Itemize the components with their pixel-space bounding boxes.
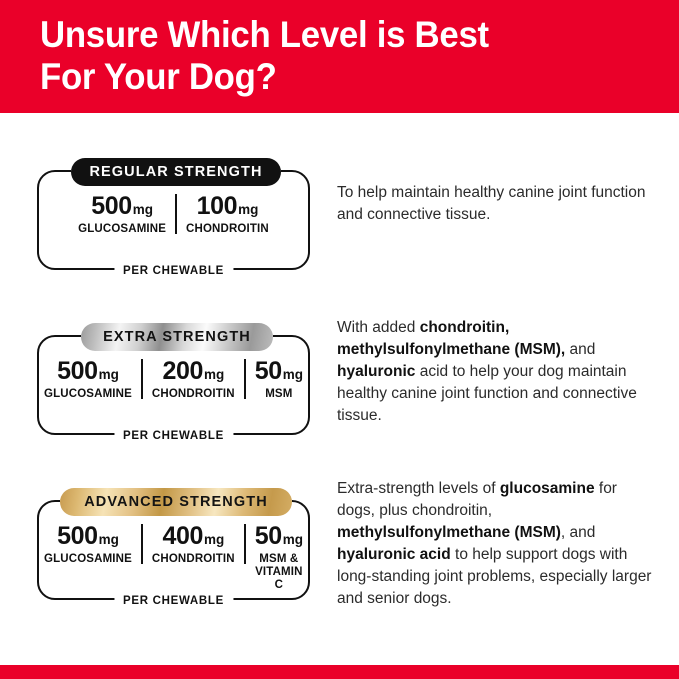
dose-number: 500 [57,522,98,551]
badge-extra-strength: EXTRA STRENGTH [81,323,273,351]
dose-column: 500 mg GLUCOSAMINE [69,192,175,236]
dose-row: 500 mg GLUCOSAMINE 400 mg CHONDROITIN 50… [39,522,308,584]
badge-label: REGULAR STRENGTH [89,164,262,180]
dose-column: 400 mg CHONDROITIN [143,522,244,566]
dose-amount: 500 mg [57,357,119,386]
dose-column: 50 mg MSM [246,357,312,401]
badge-label: ADVANCED STRENGTH [84,494,268,510]
description-extra: With added chondroitin, methylsulfonylme… [337,317,659,427]
dose-column: 500 mg GLUCOSAMINE [35,357,141,401]
dose-number: 400 [162,522,203,551]
dose-unit: mg [283,367,303,382]
footer-band [0,665,679,679]
dose-unit: mg [204,532,224,547]
dose-unit: mg [133,202,153,217]
dose-amount: 500 mg [57,522,119,551]
dose-ingredient: GLUCOSAMINE [44,388,132,401]
dose-number: 100 [197,192,238,221]
dose-number: 200 [162,357,203,386]
dose-number: 50 [255,522,282,551]
dose-ingredient: GLUCOSAMINE [44,553,132,566]
per-chewable-label: PER CHEWABLE [114,430,233,442]
per-chewable-label: PER CHEWABLE [114,595,233,607]
dose-unit: mg [204,367,224,382]
dose-number: 500 [91,192,132,221]
dose-ingredient: MSM & VITAMIN C [255,553,303,592]
dose-ingredient: MSM [265,388,292,401]
dose-column: 500 mg GLUCOSAMINE [35,522,141,566]
dose-column: 100 mg CHONDROITIN [177,192,278,236]
header-band: Unsure Which Level is Best For Your Dog? [0,0,679,113]
dose-unit: mg [99,532,119,547]
dose-row: 500 mg GLUCOSAMINE 100 mg CHONDROITIN [39,192,308,254]
badge-advanced-strength: ADVANCED STRENGTH [60,488,292,516]
strength-card-advanced: ADVANCED STRENGTH 500 mg GLUCOSAMINE 400… [37,500,310,600]
per-chewable-label: PER CHEWABLE [114,265,233,277]
dose-unit: mg [238,202,258,217]
dose-ingredient: CHONDROITIN [152,388,235,401]
dose-amount: 200 mg [162,357,224,386]
dose-ingredient: GLUCOSAMINE [78,223,166,236]
dose-ingredient: CHONDROITIN [186,223,269,236]
dose-amount: 50 mg [255,357,303,386]
dose-amount: 50 mg [255,522,303,551]
page-title: Unsure Which Level is Best For Your Dog? [40,14,604,98]
dose-number: 500 [57,357,98,386]
dose-unit: mg [283,532,303,547]
dose-amount: 500 mg [91,192,153,221]
strength-card-extra: EXTRA STRENGTH 500 mg GLUCOSAMINE 200 mg… [37,335,310,435]
dose-column: 200 mg CHONDROITIN [143,357,244,401]
dose-column: 50 mg MSM & VITAMIN C [246,522,312,592]
dose-amount: 100 mg [197,192,259,221]
dose-number: 50 [255,357,282,386]
badge-label: EXTRA STRENGTH [103,329,251,345]
dose-ingredient: CHONDROITIN [152,553,235,566]
badge-regular-strength: REGULAR STRENGTH [71,158,281,186]
description-advanced: Extra-strength levels of glucosamine for… [337,478,659,610]
dose-unit: mg [99,367,119,382]
dose-amount: 400 mg [162,522,224,551]
description-regular: To help maintain healthy canine joint fu… [337,182,659,226]
strength-card-regular: REGULAR STRENGTH 500 mg GLUCOSAMINE 100 … [37,170,310,270]
dose-row: 500 mg GLUCOSAMINE 200 mg CHONDROITIN 50… [39,357,308,419]
